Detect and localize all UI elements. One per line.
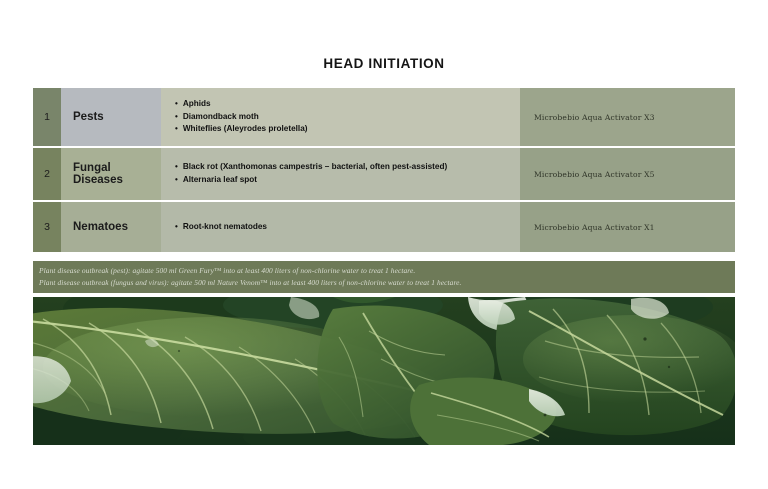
row-category: Fungal Diseases (61, 148, 161, 200)
bullet-icon: • (175, 221, 178, 233)
bullet-icon: • (175, 98, 178, 110)
row-number: 1 (33, 88, 61, 146)
list-item: • Whiteflies (Aleyrodes proletella) (175, 123, 510, 136)
treatment-table: 1 Pests • Aphids • Diamondback moth • Wh… (33, 88, 735, 254)
row-number: 3 (33, 202, 61, 252)
list-item-label: Whiteflies (Aleyrodes proletella) (183, 123, 308, 136)
row-category: Pests (61, 88, 161, 146)
list-item-label: Root-knot nematodes (183, 221, 267, 234)
list-item: • Aphids (175, 98, 510, 111)
row-items: • Aphids • Diamondback moth • Whiteflies… (161, 88, 520, 146)
table-row: 2 Fungal Diseases • Black rot (Xanthomon… (33, 148, 735, 200)
list-item-label: Black rot (Xanthomonas campestris – bact… (183, 161, 447, 174)
bullet-icon: • (175, 111, 178, 123)
bullet-icon: • (175, 161, 178, 173)
row-items: • Black rot (Xanthomonas campestris – ba… (161, 148, 520, 200)
row-category: Nematoes (61, 202, 161, 252)
list-item-label: Aphids (183, 98, 211, 111)
row-product: Microbebio Aqua Activator X1 (520, 202, 735, 252)
list-item-label: Diamondback moth (183, 111, 259, 124)
footnote-line-fungus: Plant disease outbreak (fungus and virus… (39, 277, 735, 289)
list-item: • Alternaria leaf spot (175, 174, 510, 187)
list-item: • Diamondback moth (175, 111, 510, 124)
table-row: 1 Pests • Aphids • Diamondback moth • Wh… (33, 88, 735, 146)
cabbage-leaves-photo (33, 297, 735, 445)
list-item-label: Alternaria leaf spot (183, 174, 257, 187)
bullet-icon: • (175, 174, 178, 186)
row-number: 2 (33, 148, 61, 200)
row-product: Microbebio Aqua Activator X5 (520, 148, 735, 200)
page-title: HEAD INITIATION (0, 56, 768, 71)
footnote-band: Plant disease outbreak (pest): agitate 5… (33, 261, 735, 293)
bullet-icon: • (175, 123, 178, 135)
row-items: • Root-knot nematodes (161, 202, 520, 252)
table-row: 3 Nematoes • Root-knot nematodes Microbe… (33, 202, 735, 252)
list-item: • Black rot (Xanthomonas campestris – ba… (175, 161, 510, 174)
leaf-illustration (33, 297, 735, 445)
row-product: Microbebio Aqua Activator X3 (520, 88, 735, 146)
footnote-line-pest: Plant disease outbreak (pest): agitate 5… (39, 265, 735, 277)
list-item: • Root-knot nematodes (175, 221, 510, 234)
